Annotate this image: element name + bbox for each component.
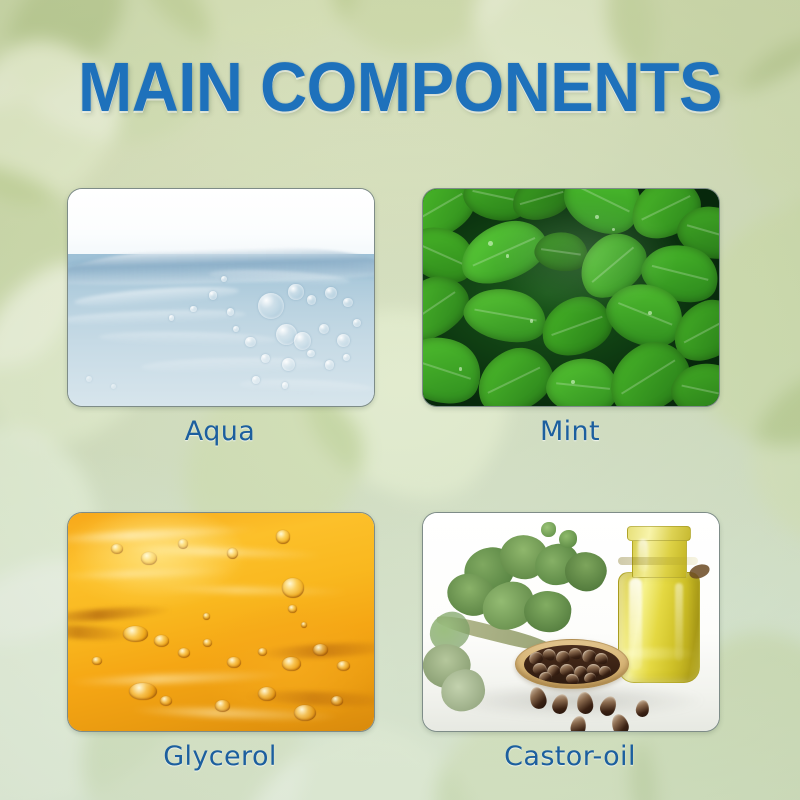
component-card-aqua[interactable]: Aqua	[67, 188, 373, 405]
page-title: MAIN COMPONENTS	[28, 52, 772, 122]
component-label-mint: Mint	[422, 416, 718, 447]
component-label-aqua: Aqua	[67, 416, 373, 447]
glycerol-liquid-photo	[68, 513, 374, 731]
mint-image-card[interactable]	[422, 188, 720, 407]
glycerol-image-card[interactable]	[67, 512, 375, 732]
aqua-water-photo	[68, 189, 374, 406]
castor-oil-image-card[interactable]	[422, 512, 720, 732]
component-label-glycerol: Glycerol	[67, 741, 373, 772]
component-card-mint[interactable]: Mint	[422, 188, 718, 405]
components-grid: Aqua	[67, 188, 718, 730]
component-card-glycerol[interactable]: Glycerol	[67, 512, 373, 730]
mint-leaves-photo	[423, 189, 719, 406]
aqua-image-card[interactable]	[67, 188, 375, 407]
component-label-castor-oil: Castor-oil	[422, 741, 718, 772]
main-components-poster: MAIN COMPONENTS	[0, 0, 800, 800]
castor-oil-photo	[423, 513, 719, 731]
component-card-castor-oil[interactable]: Castor-oil	[422, 512, 718, 730]
